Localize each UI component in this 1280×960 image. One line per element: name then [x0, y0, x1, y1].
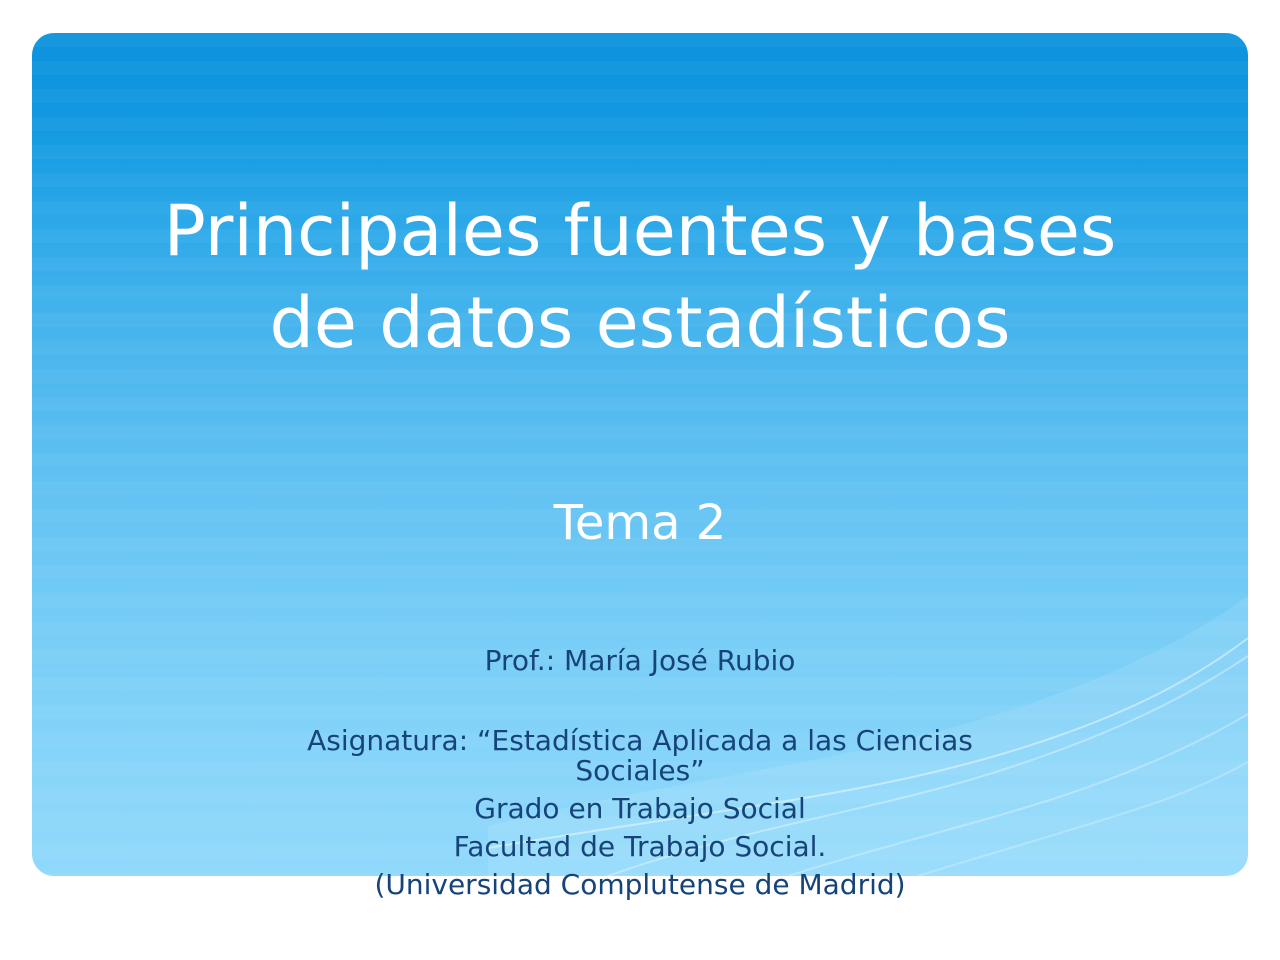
course-line-4: Facultad de Trabajo Social.	[100, 833, 1180, 861]
course-info-block: Asignatura: “Estadística Aplicada a las …	[100, 727, 1180, 899]
course-line-3: Grado en Trabajo Social	[100, 795, 1180, 823]
slide-content: Principales fuentes y bases de datos est…	[0, 0, 1280, 960]
professor-line: Prof.: María José Rubio	[140, 643, 1140, 679]
course-line-2: Sociales”	[100, 757, 1180, 785]
slide-title: Principales fuentes y bases de datos est…	[140, 185, 1140, 370]
course-line-5: (Universidad Complutense de Madrid)	[100, 871, 1180, 899]
slide-subtitle: Tema 2	[140, 495, 1140, 553]
presentation-slide: Principales fuentes y bases de datos est…	[0, 0, 1280, 960]
course-line-1: Asignatura: “Estadística Aplicada a las …	[100, 727, 1180, 755]
